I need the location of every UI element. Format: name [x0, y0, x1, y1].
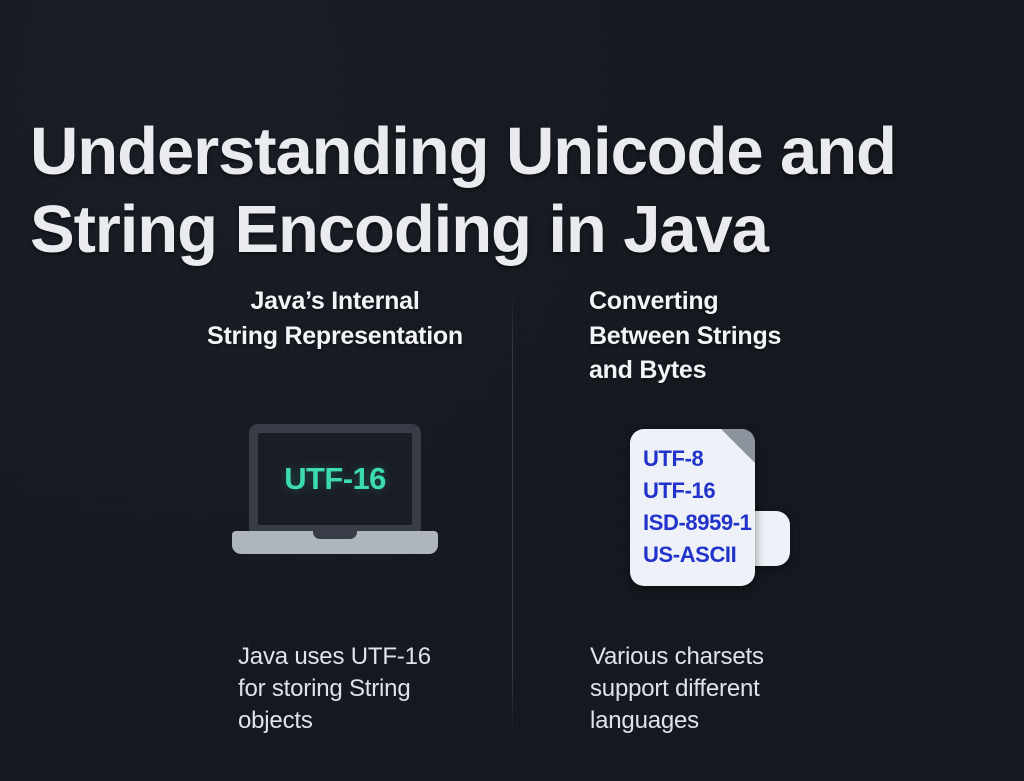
column-heading-left-line-2: String Representation [174, 319, 496, 354]
column-heading-right-line-1: Converting [589, 284, 919, 319]
column-converting-between-strings-and-bytes: Converting Between Strings and Bytes UTF… [589, 284, 919, 388]
column-heading-left: Java’s Internal String Representation [170, 284, 500, 353]
laptop-screen: UTF-16 [258, 433, 412, 525]
charset-item-isd-8959-1: ISD-8959-1 [643, 507, 752, 539]
column-divider [512, 297, 513, 729]
laptop-illustration: UTF-16 [170, 424, 500, 589]
columns-container: Java’s Internal String Representation UT… [0, 284, 1024, 734]
column-caption-right-line-1: Various charsets [590, 641, 919, 673]
column-caption-left-line-2: for storing String [238, 673, 500, 705]
column-caption-right-line-2: support different [590, 673, 919, 705]
page-title: Understanding Unicode and String Encodin… [30, 113, 990, 268]
column-java-internal-string-representation: Java’s Internal String Representation UT… [170, 284, 500, 353]
column-caption-left-wrap: Java uses UTF-16 for storing String obje… [170, 617, 500, 761]
file-illustration: UTF-8 UTF-16 ISD-8959-1 US-ASCII [589, 424, 919, 599]
laptop-screen-label: UTF-16 [284, 461, 385, 497]
charset-item-utf-16: UTF-16 [643, 475, 752, 507]
laptop-lid: UTF-16 [249, 424, 421, 532]
column-heading-right: Converting Between Strings and Bytes [589, 284, 919, 388]
column-heading-right-line-2: Between Strings [589, 319, 919, 354]
page-title-line-2: String Encoding in Java [30, 191, 990, 269]
column-caption-left-line-3: objects [238, 705, 500, 737]
column-heading-left-line-1: Java’s Internal [174, 284, 496, 319]
charset-item-utf-8: UTF-8 [643, 443, 752, 475]
file-document-icon: UTF-8 UTF-16 ISD-8959-1 US-ASCII [630, 429, 755, 586]
column-caption-left: Java uses UTF-16 for storing String obje… [238, 641, 500, 737]
column-caption-right-wrap: Various charsets support different langu… [589, 617, 919, 761]
charset-list: UTF-8 UTF-16 ISD-8959-1 US-ASCII [643, 443, 752, 571]
charset-item-us-ascii: US-ASCII [643, 539, 752, 571]
laptop-base [232, 531, 438, 554]
slide-canvas: Understanding Unicode and String Encodin… [0, 0, 1024, 781]
column-heading-right-line-3: and Bytes [589, 353, 919, 388]
laptop-notch [313, 531, 357, 539]
column-caption-left-line-1: Java uses UTF-16 [238, 641, 500, 673]
column-caption-right: Various charsets support different langu… [590, 641, 919, 737]
page-title-line-1: Understanding Unicode and [30, 113, 990, 191]
column-caption-right-line-3: languages [590, 705, 919, 737]
laptop-icon: UTF-16 [232, 424, 438, 554]
